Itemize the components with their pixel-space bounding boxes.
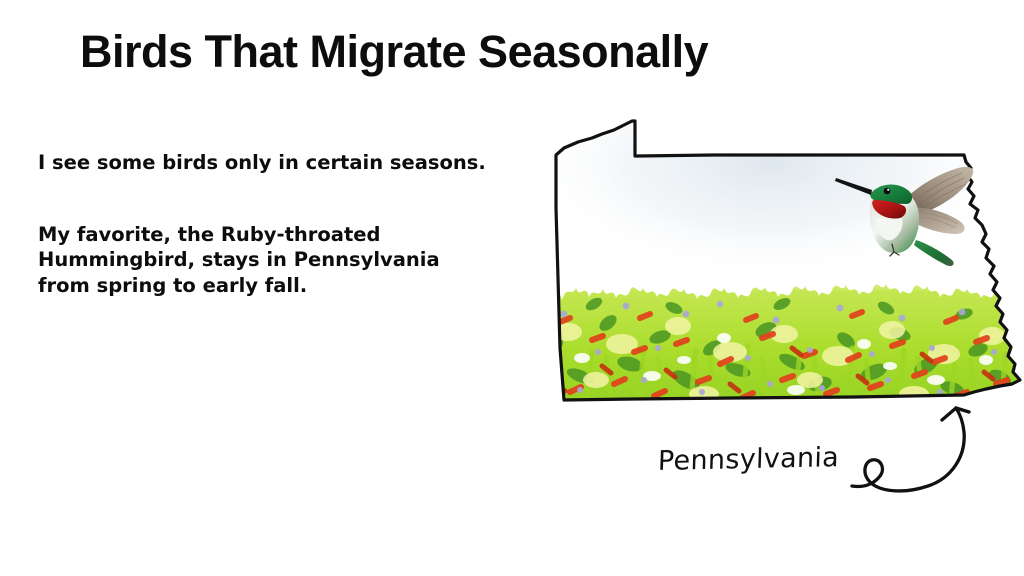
pennsylvania-handwritten-label: Pennsylvania — [657, 442, 839, 477]
map-callout: Pennsylvania — [650, 398, 1000, 508]
paragraph-two: My favorite, the Ruby-throated Hummingbi… — [38, 222, 538, 299]
arrow-curve — [852, 408, 964, 491]
pennsylvania-map-figure — [534, 108, 1024, 418]
pennsylvania-map-svg — [534, 108, 1024, 418]
paragraph-two-line-2: Hummingbird, stays in Pennsylvania — [38, 247, 538, 273]
paragraph-two-line-3: from spring to early fall. — [38, 273, 538, 299]
paragraph-two-line-1: My favorite, the Ruby-throated — [38, 222, 538, 248]
paragraph-one: I see some birds only in certain seasons… — [38, 150, 538, 176]
curly-arrow-icon — [848, 398, 998, 503]
body-text-block: I see some birds only in certain seasons… — [38, 150, 538, 299]
arrow-head — [942, 408, 969, 420]
page-title: Birds That Migrate Seasonally — [80, 28, 708, 75]
slide-canvas: Birds That Migrate Seasonally I see some… — [0, 0, 1024, 576]
